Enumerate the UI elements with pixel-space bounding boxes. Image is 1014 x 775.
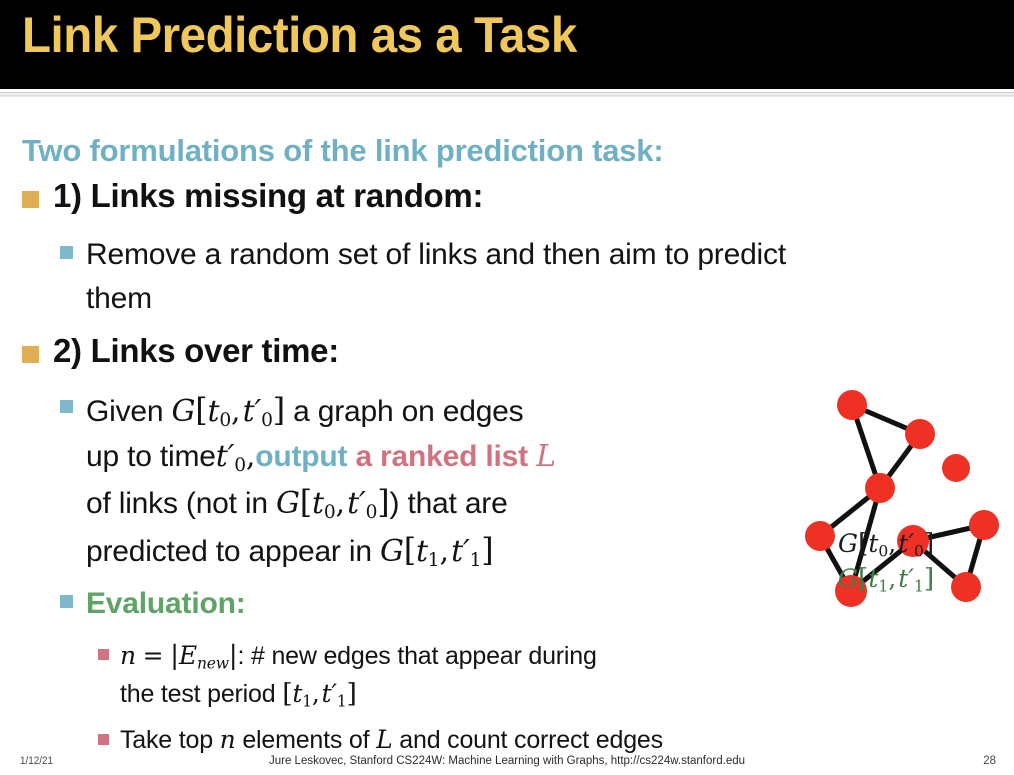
math-sub-1: 1 xyxy=(878,577,888,595)
math-sub-0: 0 xyxy=(219,410,231,431)
math-bracket-open: [ xyxy=(300,484,312,521)
math-sub-0: 0 xyxy=(366,503,378,524)
math-sub-1: 1 xyxy=(302,692,312,710)
math-G: G xyxy=(276,486,300,521)
page-title: Link Prediction as a Task xyxy=(22,6,577,64)
math-t: t xyxy=(898,564,908,593)
math-sub-new: new xyxy=(197,654,229,672)
bullet-evaluation: Evaluation: xyxy=(60,582,246,626)
evaluation-label: Evaluation: xyxy=(86,582,246,626)
math-sub-0: 0 xyxy=(914,542,924,560)
bullet-square-gold-icon xyxy=(22,346,39,363)
math-bracket-open: [ xyxy=(195,392,207,429)
math-sub-0: 0 xyxy=(878,542,888,560)
graph-node xyxy=(942,454,970,482)
math-comma: , xyxy=(231,394,240,429)
frag-predicted-to-appear-in: predicted to appear in xyxy=(86,535,372,568)
math-bar-open: | xyxy=(170,640,179,671)
math-t: t xyxy=(451,534,463,569)
graph-node xyxy=(969,510,999,540)
graph-node xyxy=(865,473,895,503)
bullet-item-2: 2) Links over time: xyxy=(22,332,339,371)
graph-node xyxy=(905,419,935,449)
math-bracket-open: [ xyxy=(858,563,868,594)
math-t: t xyxy=(322,679,332,708)
math-t: t xyxy=(243,394,255,429)
math-bar-close: | xyxy=(229,640,238,671)
graph-figure xyxy=(795,282,1010,527)
math-sub-1: 1 xyxy=(428,550,440,571)
math-G: G xyxy=(172,394,196,429)
math-comma: , xyxy=(439,534,448,569)
graph-node xyxy=(837,390,867,420)
math-bracket-close: ] xyxy=(347,678,357,709)
math-sub-0: 0 xyxy=(324,503,336,524)
math-prime: ′ xyxy=(359,486,366,521)
math-t: t xyxy=(292,679,302,708)
frag-a-graph-on-edges: a graph on edges xyxy=(293,395,523,428)
math-bracket-close: ] xyxy=(377,484,389,521)
footer-page-number: 28 xyxy=(983,755,996,767)
math-E: E xyxy=(179,641,197,670)
graph-node xyxy=(805,521,835,551)
evaluation-sub-2-text: Take top n elements of L and count corre… xyxy=(120,722,663,759)
slide-footer: 1/12/21 Jure Leskovec, Stanford CS224W: … xyxy=(0,755,1014,775)
bullet-square-gold-icon xyxy=(22,191,39,208)
math-G: G xyxy=(380,534,404,569)
math-t: t xyxy=(868,529,878,558)
math-G: G xyxy=(838,529,858,558)
math-sub-1: 1 xyxy=(914,577,924,595)
bullet-item-1-sub-text: Remove a random set of links and then ai… xyxy=(86,233,820,322)
math-comma: , xyxy=(888,529,896,558)
math-t: t xyxy=(868,564,878,593)
bullet-square-blue-icon xyxy=(60,400,73,413)
math-bracket-close: ] xyxy=(481,532,493,569)
frag-take-top: Take top xyxy=(120,726,213,754)
frag-and-count: and count correct edges xyxy=(399,726,663,754)
math-comma: , xyxy=(888,564,896,593)
bullet-item-2-sub-text: Given G[t0, t′0] a graph on edges up to … xyxy=(86,387,556,575)
bullet-square-pink-icon xyxy=(98,649,109,660)
bullet-item-1: 1) Links missing at random: xyxy=(22,177,483,216)
math-comma: , xyxy=(336,486,345,521)
math-bracket-open: [ xyxy=(404,532,416,569)
math-t: t xyxy=(312,486,324,521)
bullet-square-blue-icon xyxy=(60,595,73,608)
math-L: L xyxy=(376,725,392,754)
bullet-item-2-sub: Given G[t0, t′0] a graph on edges up to … xyxy=(60,387,820,575)
math-n: n xyxy=(120,641,136,670)
math-bracket-close: ] xyxy=(924,528,934,559)
math-t: t xyxy=(216,439,228,474)
math-t: t xyxy=(347,486,359,521)
math-sub-1: 1 xyxy=(470,550,482,571)
frag-new-edges: : # new edges that appear during xyxy=(238,642,597,670)
graph-caption-line-1: G[t1, t′1] xyxy=(838,562,934,597)
math-sub-0: 0 xyxy=(261,410,273,431)
title-bar: Link Prediction as a Task xyxy=(0,0,1014,89)
accent-output: output xyxy=(255,440,347,473)
frag-the-test-period: the test period xyxy=(120,680,275,708)
bullet-item-1-sub: Remove a random set of links and then ai… xyxy=(60,233,820,322)
math-t: t xyxy=(898,529,908,558)
math-comma: , xyxy=(312,679,320,708)
frag-given: Given xyxy=(86,395,163,428)
math-sub-0: 0 xyxy=(234,455,246,476)
frag-of-links-not-in: of links (not in xyxy=(86,487,268,520)
math-t: t xyxy=(416,534,428,569)
math-t: t xyxy=(208,394,220,429)
bullet-square-pink-icon xyxy=(98,734,109,745)
math-sub-1: 1 xyxy=(337,692,347,710)
bullet-item-1-label: 1) Links missing at random: xyxy=(53,177,483,216)
math-n: n xyxy=(220,725,236,754)
math-bracket-open: [ xyxy=(282,678,292,709)
lead-heading: Two formulations of the link prediction … xyxy=(22,133,663,169)
math-eq: = xyxy=(143,641,164,670)
math-bracket-close: ] xyxy=(273,392,285,429)
graph-caption-line-0: G[t0, t′0] xyxy=(838,527,934,562)
math-L: L xyxy=(536,439,556,474)
evaluation-sub-2: Take top n elements of L and count corre… xyxy=(98,722,958,759)
frag-elements-of: elements of xyxy=(242,726,369,754)
math-comma: , xyxy=(246,439,255,474)
bullet-item-2-label: 2) Links over time: xyxy=(53,332,339,371)
bullet-square-blue-icon xyxy=(60,246,73,259)
math-G: G xyxy=(838,564,858,593)
math-bracket-close: ] xyxy=(924,563,934,594)
graph-node xyxy=(951,572,981,602)
accent-ranked-list: a ranked list xyxy=(355,440,527,473)
slide-content: Two formulations of the link prediction … xyxy=(0,97,1014,752)
footer-credit: Jure Leskovec, Stanford CS224W: Machine … xyxy=(0,755,1014,767)
evaluation-sub-1: n = |Enew|: # new edges that appear duri… xyxy=(98,637,888,712)
math-prime: ′ xyxy=(463,534,470,569)
frag-up-to-time: up to time xyxy=(86,440,216,473)
evaluation-sub-1-text: n = |Enew|: # new edges that appear duri… xyxy=(120,637,597,712)
frag-that-are: ) that are xyxy=(390,487,508,520)
graph-caption: G[t0, t′0] G[t1, t′1] xyxy=(838,527,934,597)
math-bracket-open: [ xyxy=(858,528,868,559)
